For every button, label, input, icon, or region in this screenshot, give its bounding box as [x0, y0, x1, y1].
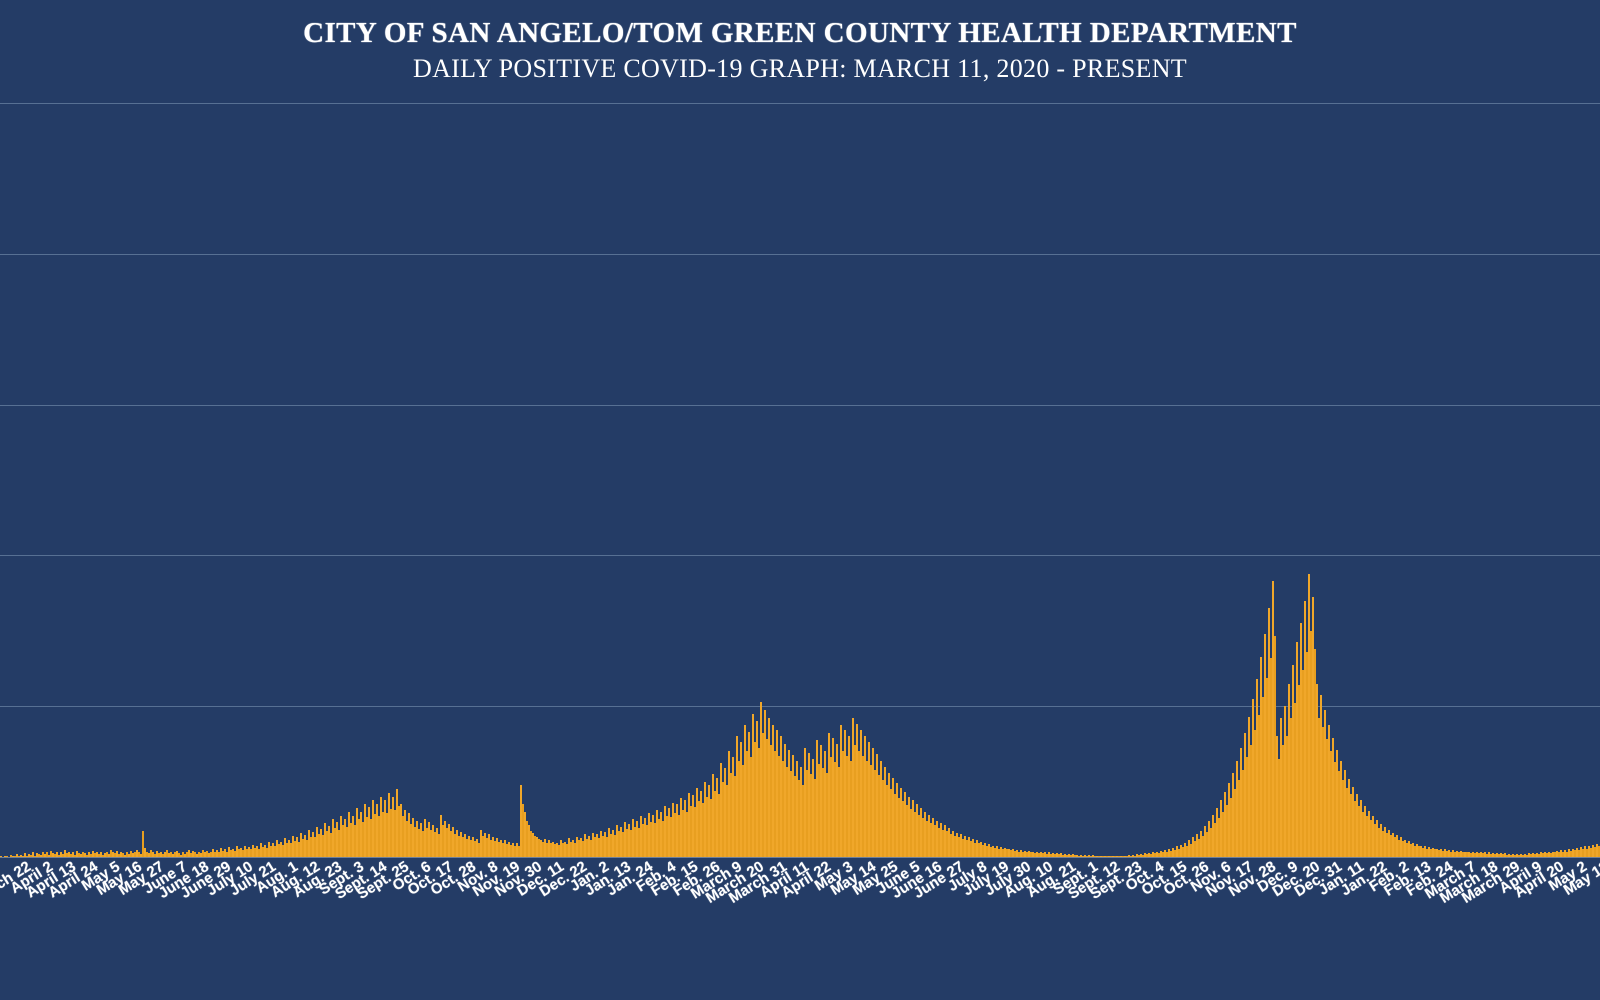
plot-area — [0, 103, 1600, 857]
page-title: CITY OF SAN ANGELO/TOM GREEN COUNTY HEAL… — [0, 0, 1600, 48]
bar-series — [0, 103, 1600, 857]
page-subtitle: DAILY POSITIVE COVID-19 GRAPH: MARCH 11,… — [0, 48, 1600, 82]
chart-header: CITY OF SAN ANGELO/TOM GREEN COUNTY HEAL… — [0, 0, 1600, 103]
x-axis-labels: March 22April 2April 13April 24May 5May … — [0, 858, 1600, 1000]
covid-daily-positive-chart: CITY OF SAN ANGELO/TOM GREEN COUNTY HEAL… — [0, 0, 1600, 1000]
